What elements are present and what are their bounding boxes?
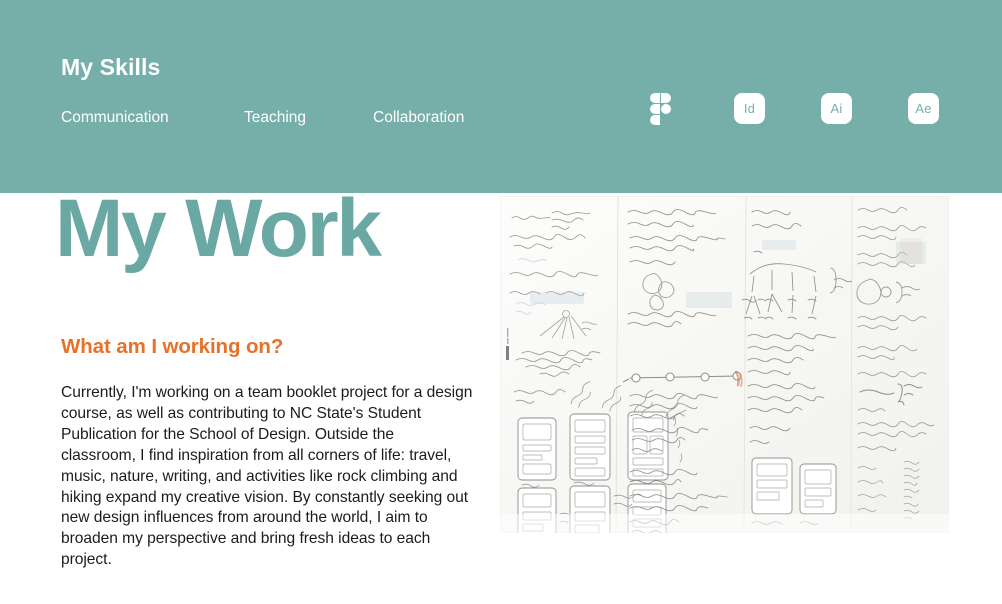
section-body-text: Currently, I'm working on a team booklet… [61,383,473,571]
aftereffects-icon[interactable]: Ae [908,93,939,124]
aftereffects-icon-label: Ae [908,93,939,124]
nav-item-communication[interactable]: Communication [61,107,169,129]
section-heading: What am I working on? [61,334,473,360]
figma-icon[interactable] [647,93,678,124]
nav-item-collaboration[interactable]: Collaboration [373,107,464,129]
illustrator-icon[interactable]: Ai [821,93,852,124]
indesign-icon[interactable]: Id [734,93,765,124]
work-text-column: What am I working on? Currently, I'm wor… [61,334,473,571]
page-title: My Work [55,183,380,275]
indesign-icon-label: Id [734,93,765,124]
work-sketch-photo [500,196,949,533]
illustrator-icon-label: Ai [821,93,852,124]
nav-item-teaching[interactable]: Teaching [244,107,306,129]
skills-title: My Skills [61,53,160,81]
app-icon-row: Id Ai Ae [645,93,945,127]
sketch-photo-graphic [500,196,949,533]
skills-header-bar: My Skills Communication Teaching Collabo… [0,0,1002,193]
